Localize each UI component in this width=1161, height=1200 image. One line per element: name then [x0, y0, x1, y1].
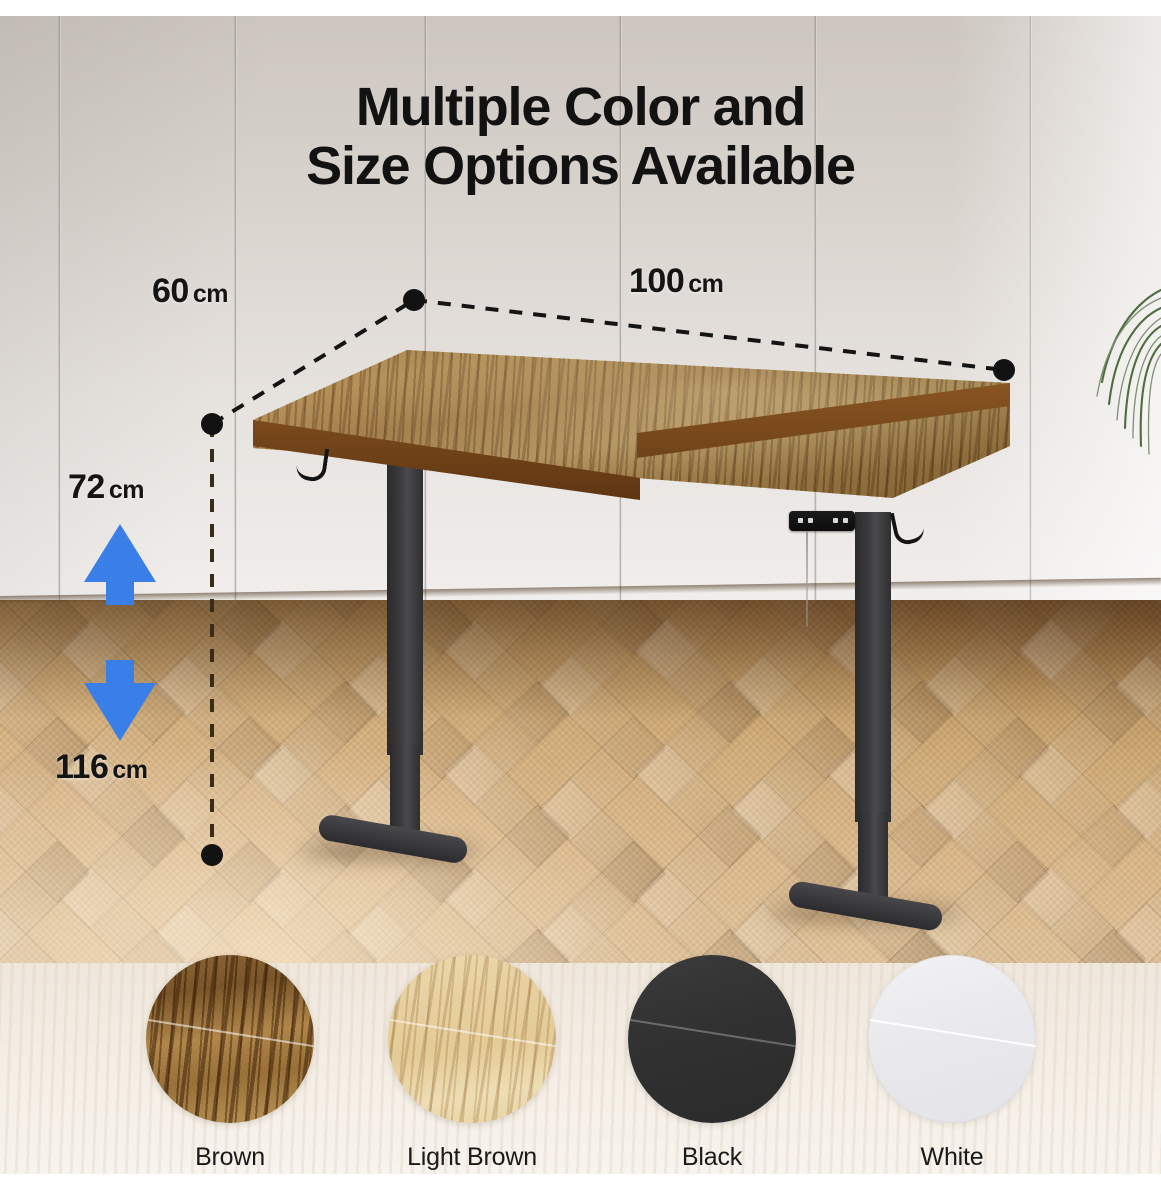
depth-value: 60 [152, 272, 189, 310]
arrow-down-icon [82, 658, 158, 743]
dimension-dot-floor [201, 844, 223, 866]
dimension-dot-top-back [403, 289, 425, 311]
color-option-brown[interactable]: Brown [110, 955, 350, 1172]
headline-line-1: Multiple Color and [356, 77, 805, 137]
color-option-black[interactable]: Black [592, 955, 832, 1172]
color-option-light-brown[interactable]: Light Brown [352, 955, 592, 1172]
min-height-value: 72 [68, 468, 105, 506]
swatch-seam [388, 1016, 556, 1051]
swatch-label-brown: Brown [110, 1143, 350, 1172]
width-value: 100 [629, 262, 684, 300]
swatch-label-light-brown: Light Brown [352, 1143, 592, 1172]
swatch-circle-light-brown[interactable] [388, 955, 556, 1123]
depth-unit: cm [193, 280, 228, 308]
depth-dimension-label: 60cm [152, 272, 228, 311]
swatch-seam [146, 1016, 314, 1051]
swatch-label-white: White [832, 1143, 1072, 1172]
top-white-edge [0, 0, 1161, 16]
min-height-unit: cm [109, 476, 144, 504]
swatch-circle-brown[interactable] [146, 955, 314, 1123]
swatch-seam [868, 1016, 1036, 1051]
max-height-value: 116 [55, 748, 108, 786]
color-options: Brown Light Brown Black White [0, 955, 1161, 1200]
swatch-circle-white[interactable] [868, 955, 1036, 1123]
swatch-seam [628, 1016, 796, 1051]
swatch-circle-black[interactable] [628, 955, 796, 1123]
depth-dimension-line [212, 300, 414, 424]
page-title: Multiple Color and Size Options Availabl… [0, 78, 1161, 197]
width-dimension-line [414, 300, 1004, 370]
product-infographic: 60cm 100cm 72cm 116cm Multiple Color and… [0, 0, 1161, 1200]
arrow-up-icon [82, 522, 158, 607]
dimension-dot-right-back [993, 359, 1015, 381]
width-dimension-label: 100cm [629, 262, 723, 301]
color-option-white[interactable]: White [832, 955, 1072, 1172]
min-height-label: 72cm [68, 468, 144, 507]
dimension-dot-left-back [201, 413, 223, 435]
headline-line-2: Size Options Available [0, 137, 1161, 196]
max-height-unit: cm [112, 756, 147, 784]
max-height-label: 116cm [55, 748, 148, 787]
width-unit: cm [688, 270, 723, 298]
swatch-label-black: Black [592, 1143, 832, 1172]
